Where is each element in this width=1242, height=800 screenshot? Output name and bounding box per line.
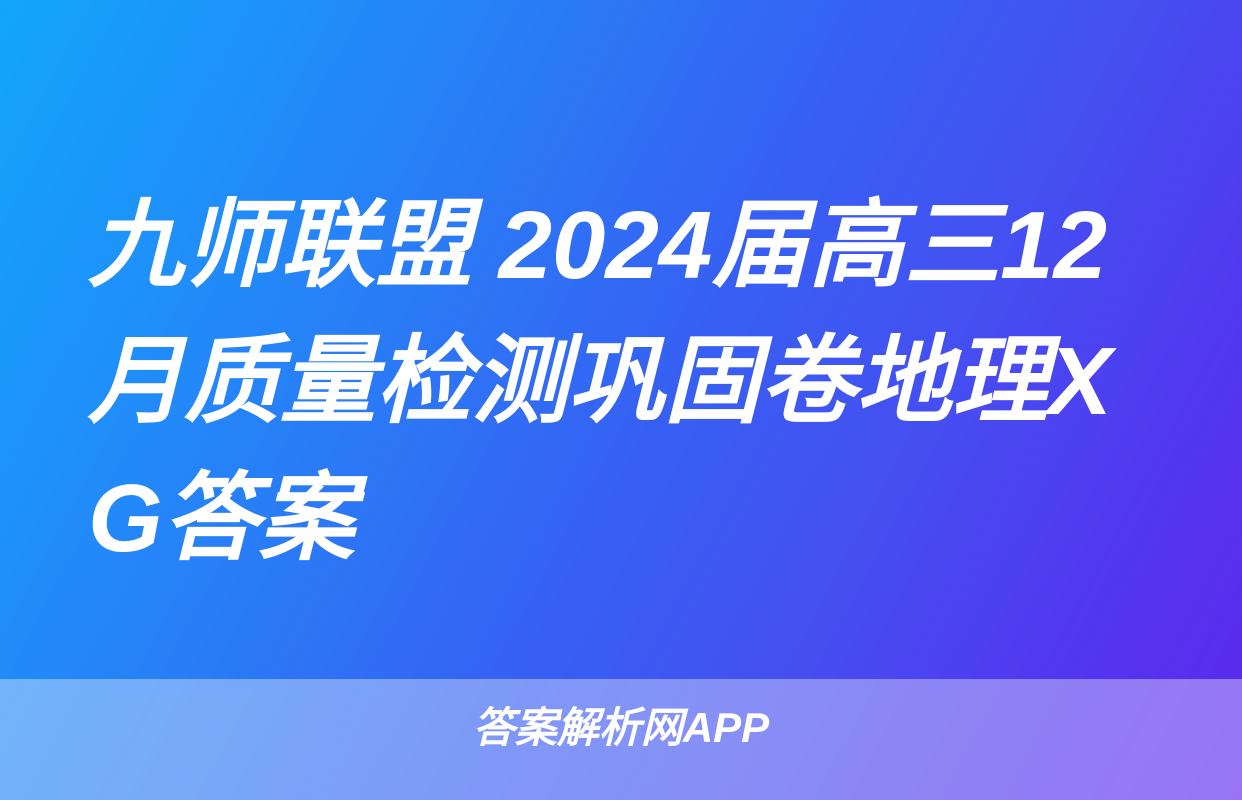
- page-title: 九师联盟 2024届高三12月质量检测巩固卷地理XG答案: [88, 178, 1156, 587]
- watermark-app-name: 答案解析网APP: [0, 707, 1242, 749]
- poster-canvas: 九师联盟 2024届高三12月质量检测巩固卷地理XG答案 答案解析网APP: [0, 0, 1242, 800]
- title-block: 九师联盟 2024届高三12月质量检测巩固卷地理XG答案: [88, 178, 1156, 587]
